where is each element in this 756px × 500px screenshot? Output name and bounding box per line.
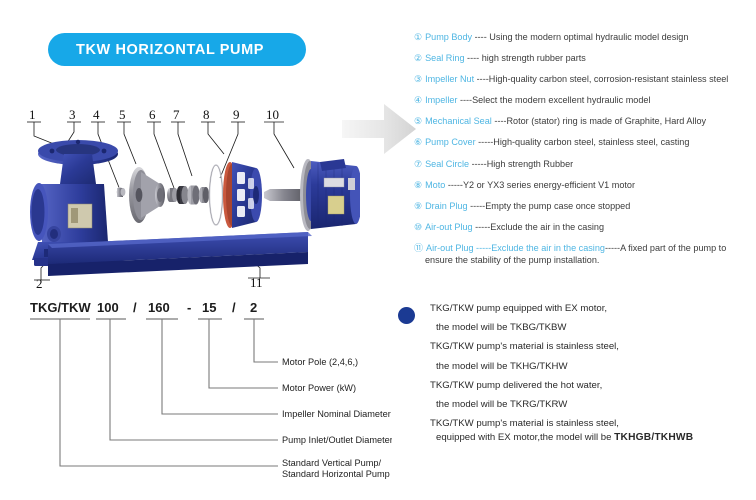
legend-description: High-quality carbon steel, corrosion-res…: [489, 74, 729, 84]
svg-text:1: 1: [29, 107, 36, 122]
legend-number: ⑥: [414, 137, 422, 148]
legend-item: ⑩Air-out Plug -----Exclude the air in th…: [414, 222, 754, 233]
legend-part-name: Pump Body: [425, 32, 472, 42]
svg-text:/: /: [232, 300, 236, 315]
legend-part-name: Air-out Plug -----Exclude the air in the…: [426, 243, 605, 253]
svg-text:6: 6: [149, 107, 156, 122]
legend-number: ③: [414, 74, 422, 85]
legend-part-name: Drain Plug: [425, 201, 467, 211]
note-line: TKG/TKW pump's material is stainless ste…: [430, 341, 750, 352]
legend-item: ⑤Mechanical Seal ----Rotor (stator) ring…: [414, 116, 754, 127]
legend-description: A fixed part of the pump to: [620, 243, 726, 253]
note-line: TKG/TKW pump's material is stainless ste…: [430, 418, 750, 429]
legend-separator: -----: [469, 159, 487, 169]
legend-separator: ----: [472, 32, 489, 42]
svg-text:100: 100: [97, 300, 119, 315]
flow-arrow-icon: [340, 100, 418, 158]
svg-text:8: 8: [203, 107, 210, 122]
legend-part-name: Moto: [425, 180, 445, 190]
legend-part-name: Impeller Nut: [425, 74, 474, 84]
parts-legend-list: ①Pump Body ---- Using the modern optimal…: [414, 32, 754, 276]
svg-text:2: 2: [36, 276, 43, 290]
legend-part-name: Seal Ring: [425, 53, 464, 63]
legend-description: High strength Rubber: [487, 159, 573, 169]
legend-number: ①: [414, 32, 422, 43]
legend-number: ⑩: [414, 222, 422, 233]
legend-part-name: Pump Cover: [425, 137, 476, 147]
legend-part-name: Air-out Plug: [425, 222, 473, 232]
legend-description: Using the modern optimal hydraulic model…: [489, 32, 688, 42]
svg-text:9: 9: [233, 107, 240, 122]
legend-description-continued: ensure the stability of the pump install…: [414, 255, 754, 266]
legend-number: ⑪: [414, 243, 423, 254]
note-line: TKG/TKW pump equipped with EX motor,: [430, 303, 750, 314]
note-line: the model will be TKRG/TKRW: [430, 399, 750, 410]
note-line-text: equipped with EX motor,the model will be: [436, 432, 614, 443]
legend-number: ④: [414, 95, 422, 106]
legend-separator: -----: [445, 180, 463, 190]
title-banner: TKW HORIZONTAL PUMP: [48, 33, 306, 66]
legend-separator: ----: [492, 116, 507, 126]
svg-text:/: /: [133, 300, 137, 315]
legend-item: ②Seal Ring ---- high strength rubber par…: [414, 53, 754, 64]
svg-text:TKG/TKW: TKG/TKW: [30, 300, 91, 315]
svg-text:5: 5: [119, 107, 126, 122]
product-spec-sheet: TKW HORIZONTAL PUMP: [0, 0, 756, 500]
legend-separator: -----: [605, 243, 620, 253]
note-model-code: TKHGB/TKHWB: [614, 432, 693, 443]
legend-item: ⑨Drain Plug -----Empty the pump case onc…: [414, 201, 754, 212]
svg-text:Standard Horizontal Pump: Standard Horizontal Pump: [282, 469, 390, 479]
exploded-pump-diagram: 1 3 4 5 6 7 8 9 10 2 11: [8, 92, 360, 290]
svg-text:Standard Vertical Pump/: Standard Vertical Pump/: [282, 458, 382, 468]
note-line: the model will be TKBG/TKBW: [430, 322, 750, 333]
legend-part-name: Impeller: [425, 95, 457, 105]
legend-description: Select the modern excellent hydraulic mo…: [472, 95, 650, 105]
legend-separator: ----: [457, 95, 472, 105]
svg-text:4: 4: [93, 107, 100, 122]
svg-text:15: 15: [202, 300, 216, 315]
legend-separator: -----: [473, 222, 491, 232]
bullet-dot-icon: [398, 307, 415, 324]
legend-item: ⑪Air-out Plug -----Exclude the air in th…: [414, 243, 754, 266]
svg-text:2: 2: [250, 300, 257, 315]
legend-separator: ----: [465, 53, 482, 63]
legend-separator: ----: [474, 74, 489, 84]
legend-number: ⑨: [414, 201, 422, 212]
legend-item: ③Impeller Nut ----High-quality carbon st…: [414, 74, 754, 85]
note-line-with-model: equipped with EX motor,the model will be…: [430, 432, 750, 443]
svg-text:Motor Power (kW): Motor Power (kW): [282, 383, 356, 393]
legend-number: ②: [414, 53, 422, 64]
legend-description: Empty the pump case once stopped: [485, 201, 630, 211]
model-variant-notes: TKG/TKW pump equipped with EX motor, the…: [398, 303, 750, 451]
legend-item: ⑥Pump Cover -----High-quality carbon ste…: [414, 137, 754, 148]
model-code-labels: Motor Pole (2,4,6,) Motor Power (kW) Imp…: [282, 357, 392, 479]
note-line: the model will be TKHG/TKHW: [430, 361, 750, 372]
legend-description: Rotor (stator) ring is made of Graphite,…: [506, 116, 706, 126]
legend-item: ⑧Moto -----Y2 or YX3 series energy-effic…: [414, 180, 754, 191]
legend-number: ⑤: [414, 116, 422, 127]
model-code-text: TKG/TKW 100 / 160 - 15 / 2: [30, 300, 257, 315]
svg-text:10: 10: [266, 107, 279, 122]
svg-text:Motor Pole (2,4,6,): Motor Pole (2,4,6,): [282, 357, 358, 367]
svg-text:-: -: [187, 300, 191, 315]
legend-item: ⑦Seal Circle -----High strength Rubber: [414, 159, 754, 170]
model-designation-diagram: TKG/TKW 100 / 160 - 15 / 2: [12, 296, 392, 494]
legend-separator: -----: [476, 137, 494, 147]
svg-text:160: 160: [148, 300, 170, 315]
svg-text:3: 3: [69, 107, 76, 122]
page-title: TKW HORIZONTAL PUMP: [48, 42, 264, 58]
legend-description: high strength rubber parts: [482, 53, 586, 63]
svg-text:Impeller Nominal Diameter (mm): Impeller Nominal Diameter (mm): [282, 409, 392, 419]
legend-separator: -----: [468, 201, 486, 211]
legend-item: ①Pump Body ---- Using the modern optimal…: [414, 32, 754, 43]
legend-number: ⑦: [414, 159, 422, 170]
svg-text:Pump Inlet/Outlet Diameter (mm: Pump Inlet/Outlet Diameter (mm): [282, 435, 392, 445]
legend-part-name: Seal Circle: [425, 159, 469, 169]
svg-text:7: 7: [173, 107, 180, 122]
legend-description: High-quality carbon steel, stainless ste…: [493, 137, 689, 147]
svg-text:11: 11: [250, 275, 263, 290]
legend-part-name: Mechanical Seal: [425, 116, 492, 126]
note-line: TKG/TKW pump delivered the hot water,: [430, 380, 750, 391]
legend-description: Y2 or YX3 series energy-efficient V1 mot…: [463, 180, 635, 190]
legend-item: ④Impeller ----Select the modern excellen…: [414, 95, 754, 106]
legend-number: ⑧: [414, 180, 422, 191]
legend-description: Exclude the air in the casing: [490, 222, 604, 232]
